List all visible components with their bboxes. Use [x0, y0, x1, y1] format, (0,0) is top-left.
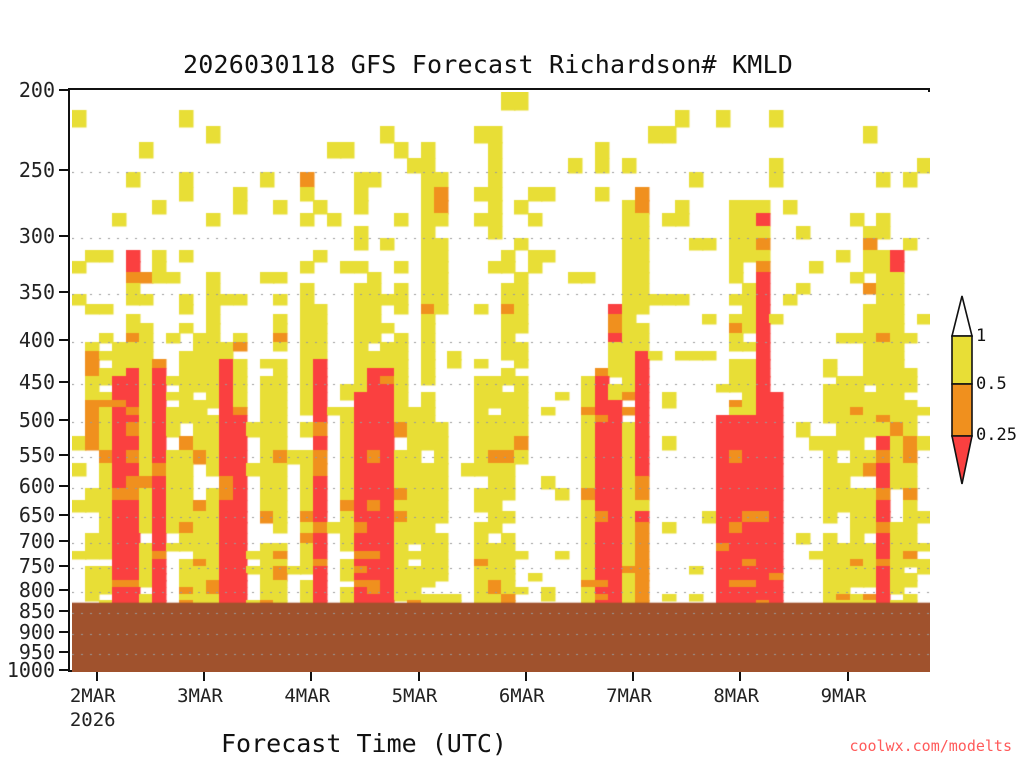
y-tick-mark: [59, 89, 68, 91]
y-tick-mark: [59, 419, 68, 421]
x-tick-mark: [203, 672, 205, 681]
y-tick-mark: [59, 235, 68, 237]
richardson-heatmap: [72, 92, 930, 672]
y-tick-label: 700: [0, 531, 55, 551]
y-tick-mark: [59, 339, 68, 341]
y-tick-mark: [59, 454, 68, 456]
x-tick-label: 2MAR: [70, 685, 116, 707]
x-tick-mark: [418, 672, 420, 681]
y-tick-label: 1000: [0, 660, 55, 680]
x-tick-label: 9MAR: [821, 685, 867, 707]
x-tick-mark: [847, 672, 849, 681]
x-axis-year-label: 2026: [70, 709, 116, 731]
y-tick-mark: [59, 381, 68, 383]
colorbar-label-0p25: 0.25: [976, 425, 1017, 445]
y-tick-label: 450: [0, 372, 55, 392]
y-tick-mark: [59, 485, 68, 487]
y-tick-mark: [59, 514, 68, 516]
source-credit: coolwx.com/modelts: [849, 737, 1012, 755]
x-tick-mark: [310, 672, 312, 681]
x-tick-label: 8MAR: [713, 685, 759, 707]
x-tick-label: 5MAR: [392, 685, 438, 707]
colorbar-cap-above-1: [952, 296, 972, 336]
y-tick-mark: [59, 169, 68, 171]
y-tick-label: 600: [0, 476, 55, 496]
plot-area: [68, 88, 930, 672]
y-tick-mark: [59, 669, 68, 671]
x-tick-label: 3MAR: [177, 685, 223, 707]
x-axis-title: Forecast Time (UTC): [0, 729, 876, 758]
y-tick-label: 300: [0, 226, 55, 246]
y-tick-mark: [59, 631, 68, 633]
y-tick-mark: [59, 565, 68, 567]
y-tick-label: 400: [0, 330, 55, 350]
y-tick-mark: [59, 291, 68, 293]
y-tick-mark: [59, 540, 68, 542]
x-tick-mark: [525, 672, 527, 681]
x-tick-label: 7MAR: [606, 685, 652, 707]
x-tick-mark: [632, 672, 634, 681]
colorbar-legend: 1 0.5 0.25: [938, 292, 1024, 488]
y-tick-mark: [59, 589, 68, 591]
chart-page: 2026030118 GFS Forecast Richardson# KMLD…: [0, 0, 1024, 768]
y-tick-label: 350: [0, 282, 55, 302]
colorbar-band-yellow: [952, 336, 972, 384]
colorbar-band-orange: [952, 384, 972, 436]
y-tick-mark: [59, 610, 68, 612]
y-tick-label: 650: [0, 505, 55, 525]
y-tick-label: 750: [0, 556, 55, 576]
y-tick-label: 500: [0, 410, 55, 430]
colorbar-label-1: 1: [976, 326, 986, 346]
x-tick-label: 4MAR: [284, 685, 330, 707]
y-tick-label: 850: [0, 601, 55, 621]
y-tick-label: 250: [0, 160, 55, 180]
x-tick-mark: [739, 672, 741, 681]
x-tick-label: 6MAR: [499, 685, 545, 707]
y-tick-mark: [59, 651, 68, 653]
x-tick-mark: [96, 672, 98, 681]
y-tick-label: 550: [0, 445, 55, 465]
page-title: 2026030118 GFS Forecast Richardson# KMLD: [0, 50, 1000, 79]
colorbar-label-0p5: 0.5: [976, 374, 1007, 394]
y-tick-label: 800: [0, 580, 55, 600]
colorbar-cap-below-0p25: [952, 436, 972, 484]
y-tick-label: 200: [0, 80, 55, 100]
